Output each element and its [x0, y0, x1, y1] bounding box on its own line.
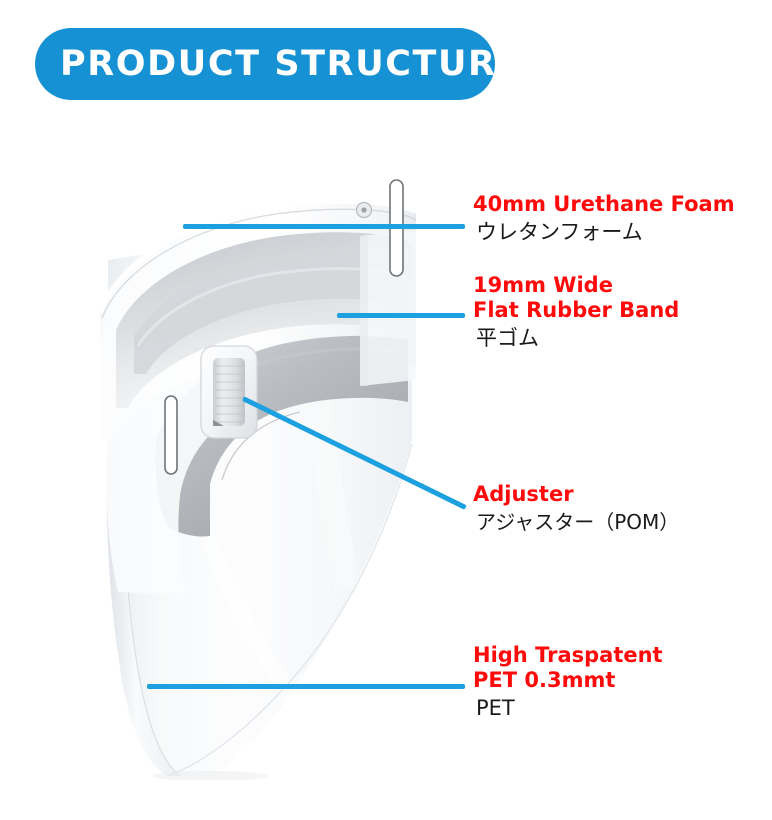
callout-pet-sheet: High Traspatent PET 0.3mmt PET — [473, 643, 663, 723]
leader-line-urethane-foam — [183, 224, 465, 229]
callout-adjuster: Adjuster アジャスター（POM） — [473, 482, 679, 537]
header-pill: PRODUCT STRUCTURE — [35, 28, 495, 100]
callout-flat-rubber-band: 19mm Wide Flat Rubber Band 平ゴム — [473, 273, 679, 353]
leader-line-flat-rubber-band — [337, 313, 465, 318]
callout-en-line: Flat Rubber Band — [473, 298, 679, 323]
callout-jp-line: ウレタンフォーム — [473, 217, 735, 247]
callout-en-line: Adjuster — [473, 482, 679, 507]
page-title: PRODUCT STRUCTURE — [35, 44, 522, 84]
callout-jp-line: PET — [473, 693, 663, 723]
callout-jp-line: アジャスター（POM） — [473, 507, 679, 537]
callout-en-line: PET 0.3mmt — [473, 668, 663, 693]
callout-en-line: High Traspatent — [473, 643, 663, 668]
leader-line-pet-sheet — [147, 684, 465, 689]
callout-urethane-foam: 40mm Urethane Foam ウレタンフォーム — [473, 192, 735, 247]
product-structure-infographic: PRODUCT STRUCTURE — [0, 0, 772, 820]
callout-en-line: 40mm Urethane Foam — [473, 192, 735, 217]
callout-jp-line: 平ゴム — [473, 323, 679, 353]
callout-en-line: 19mm Wide — [473, 273, 679, 298]
